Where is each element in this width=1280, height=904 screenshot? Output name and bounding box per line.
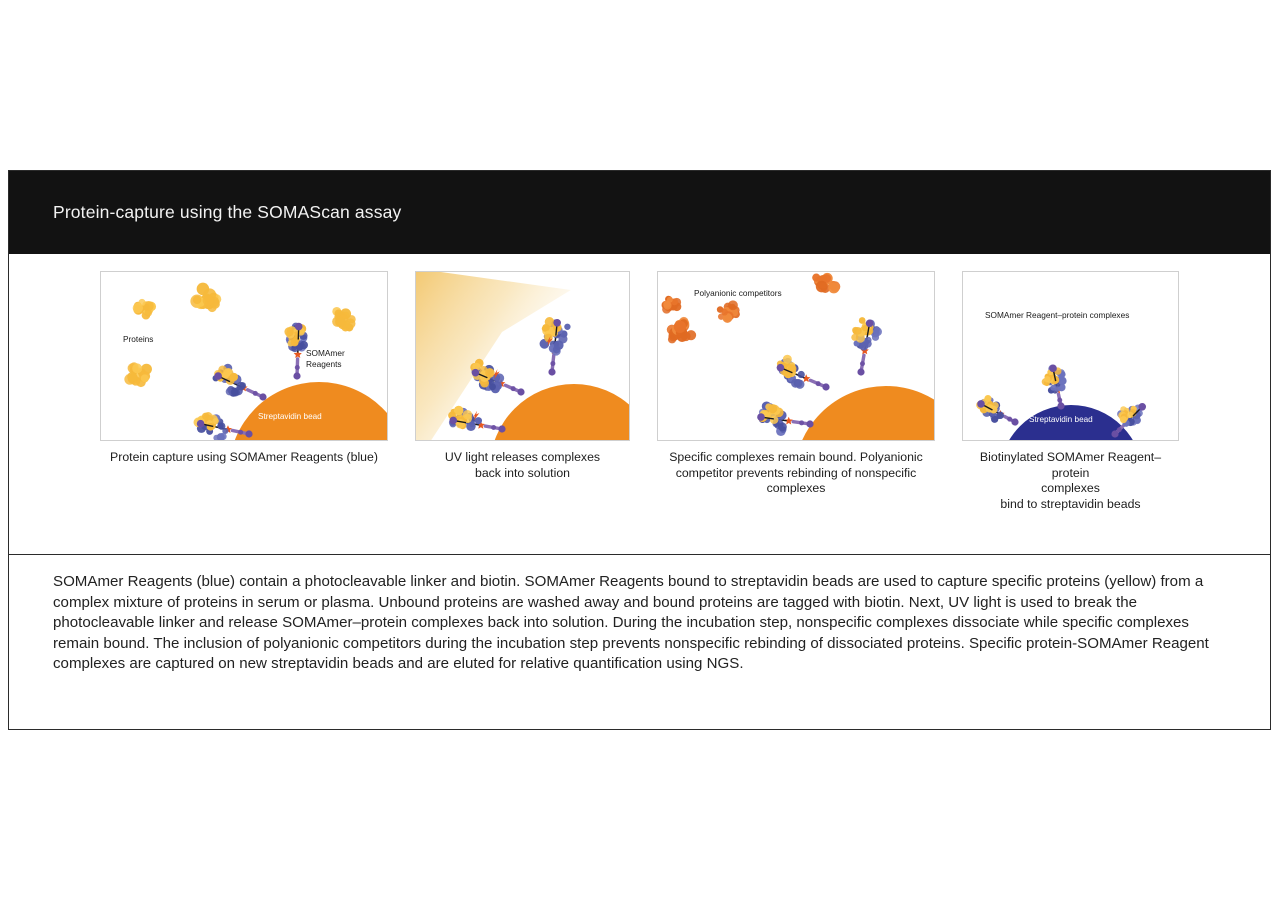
figure-frame: Protein-capture using the SOMAScan assay… <box>8 170 1271 730</box>
molecules-layer <box>963 272 1179 441</box>
competitor-group <box>662 273 841 343</box>
somamer-arm-group <box>976 365 1146 438</box>
somamer-arm-group <box>448 317 570 433</box>
description-text: SOMAmer Reagents (blue) contain a photoc… <box>53 572 1226 675</box>
panel-column-3: Polyanionic competitorsSpecific complexe… <box>657 271 935 497</box>
molecules-layer <box>416 272 630 441</box>
molecules-layer <box>658 272 935 441</box>
panels-row: ProteinsSOMAmer ReagentsStreptavidin bea… <box>9 254 1270 512</box>
somamer-arm-group <box>757 317 882 436</box>
molecules-layer <box>101 272 388 441</box>
panel-protein-capture: ProteinsSOMAmer ReagentsStreptavidin bea… <box>100 271 388 441</box>
panel-column-4: SOMAmer Reagent–protein complexesStrepta… <box>962 271 1179 512</box>
panel-caption-4: Biotinylated SOMAmer Reagent–protein com… <box>962 450 1179 512</box>
panel-polyanionic-competitors: Polyanionic competitors <box>657 271 935 441</box>
panel-column-1: ProteinsSOMAmer ReagentsStreptavidin bea… <box>100 271 388 466</box>
somamer-arm-group <box>194 323 308 441</box>
panel-caption-2: UV light releases complexes back into so… <box>415 450 630 481</box>
panels-area: ProteinsSOMAmer ReagentsStreptavidin bea… <box>9 254 1270 555</box>
figure-title-bar: Protein-capture using the SOMAScan assay <box>9 171 1270 254</box>
panel-column-2: UV light releases complexes back into so… <box>415 271 630 481</box>
panel-uv-release <box>415 271 630 441</box>
panel-caption-3: Specific complexes remain bound. Polyani… <box>657 450 935 497</box>
panel-biotinylated-rebind: SOMAmer Reagent–protein complexesStrepta… <box>962 271 1179 441</box>
page-title: Protein-capture using the SOMAScan assay <box>53 202 401 223</box>
description-box: SOMAmer Reagents (blue) contain a photoc… <box>9 555 1270 729</box>
panel-caption-1: Protein capture using SOMAmer Reagents (… <box>100 450 388 466</box>
free-protein-group <box>124 283 355 387</box>
